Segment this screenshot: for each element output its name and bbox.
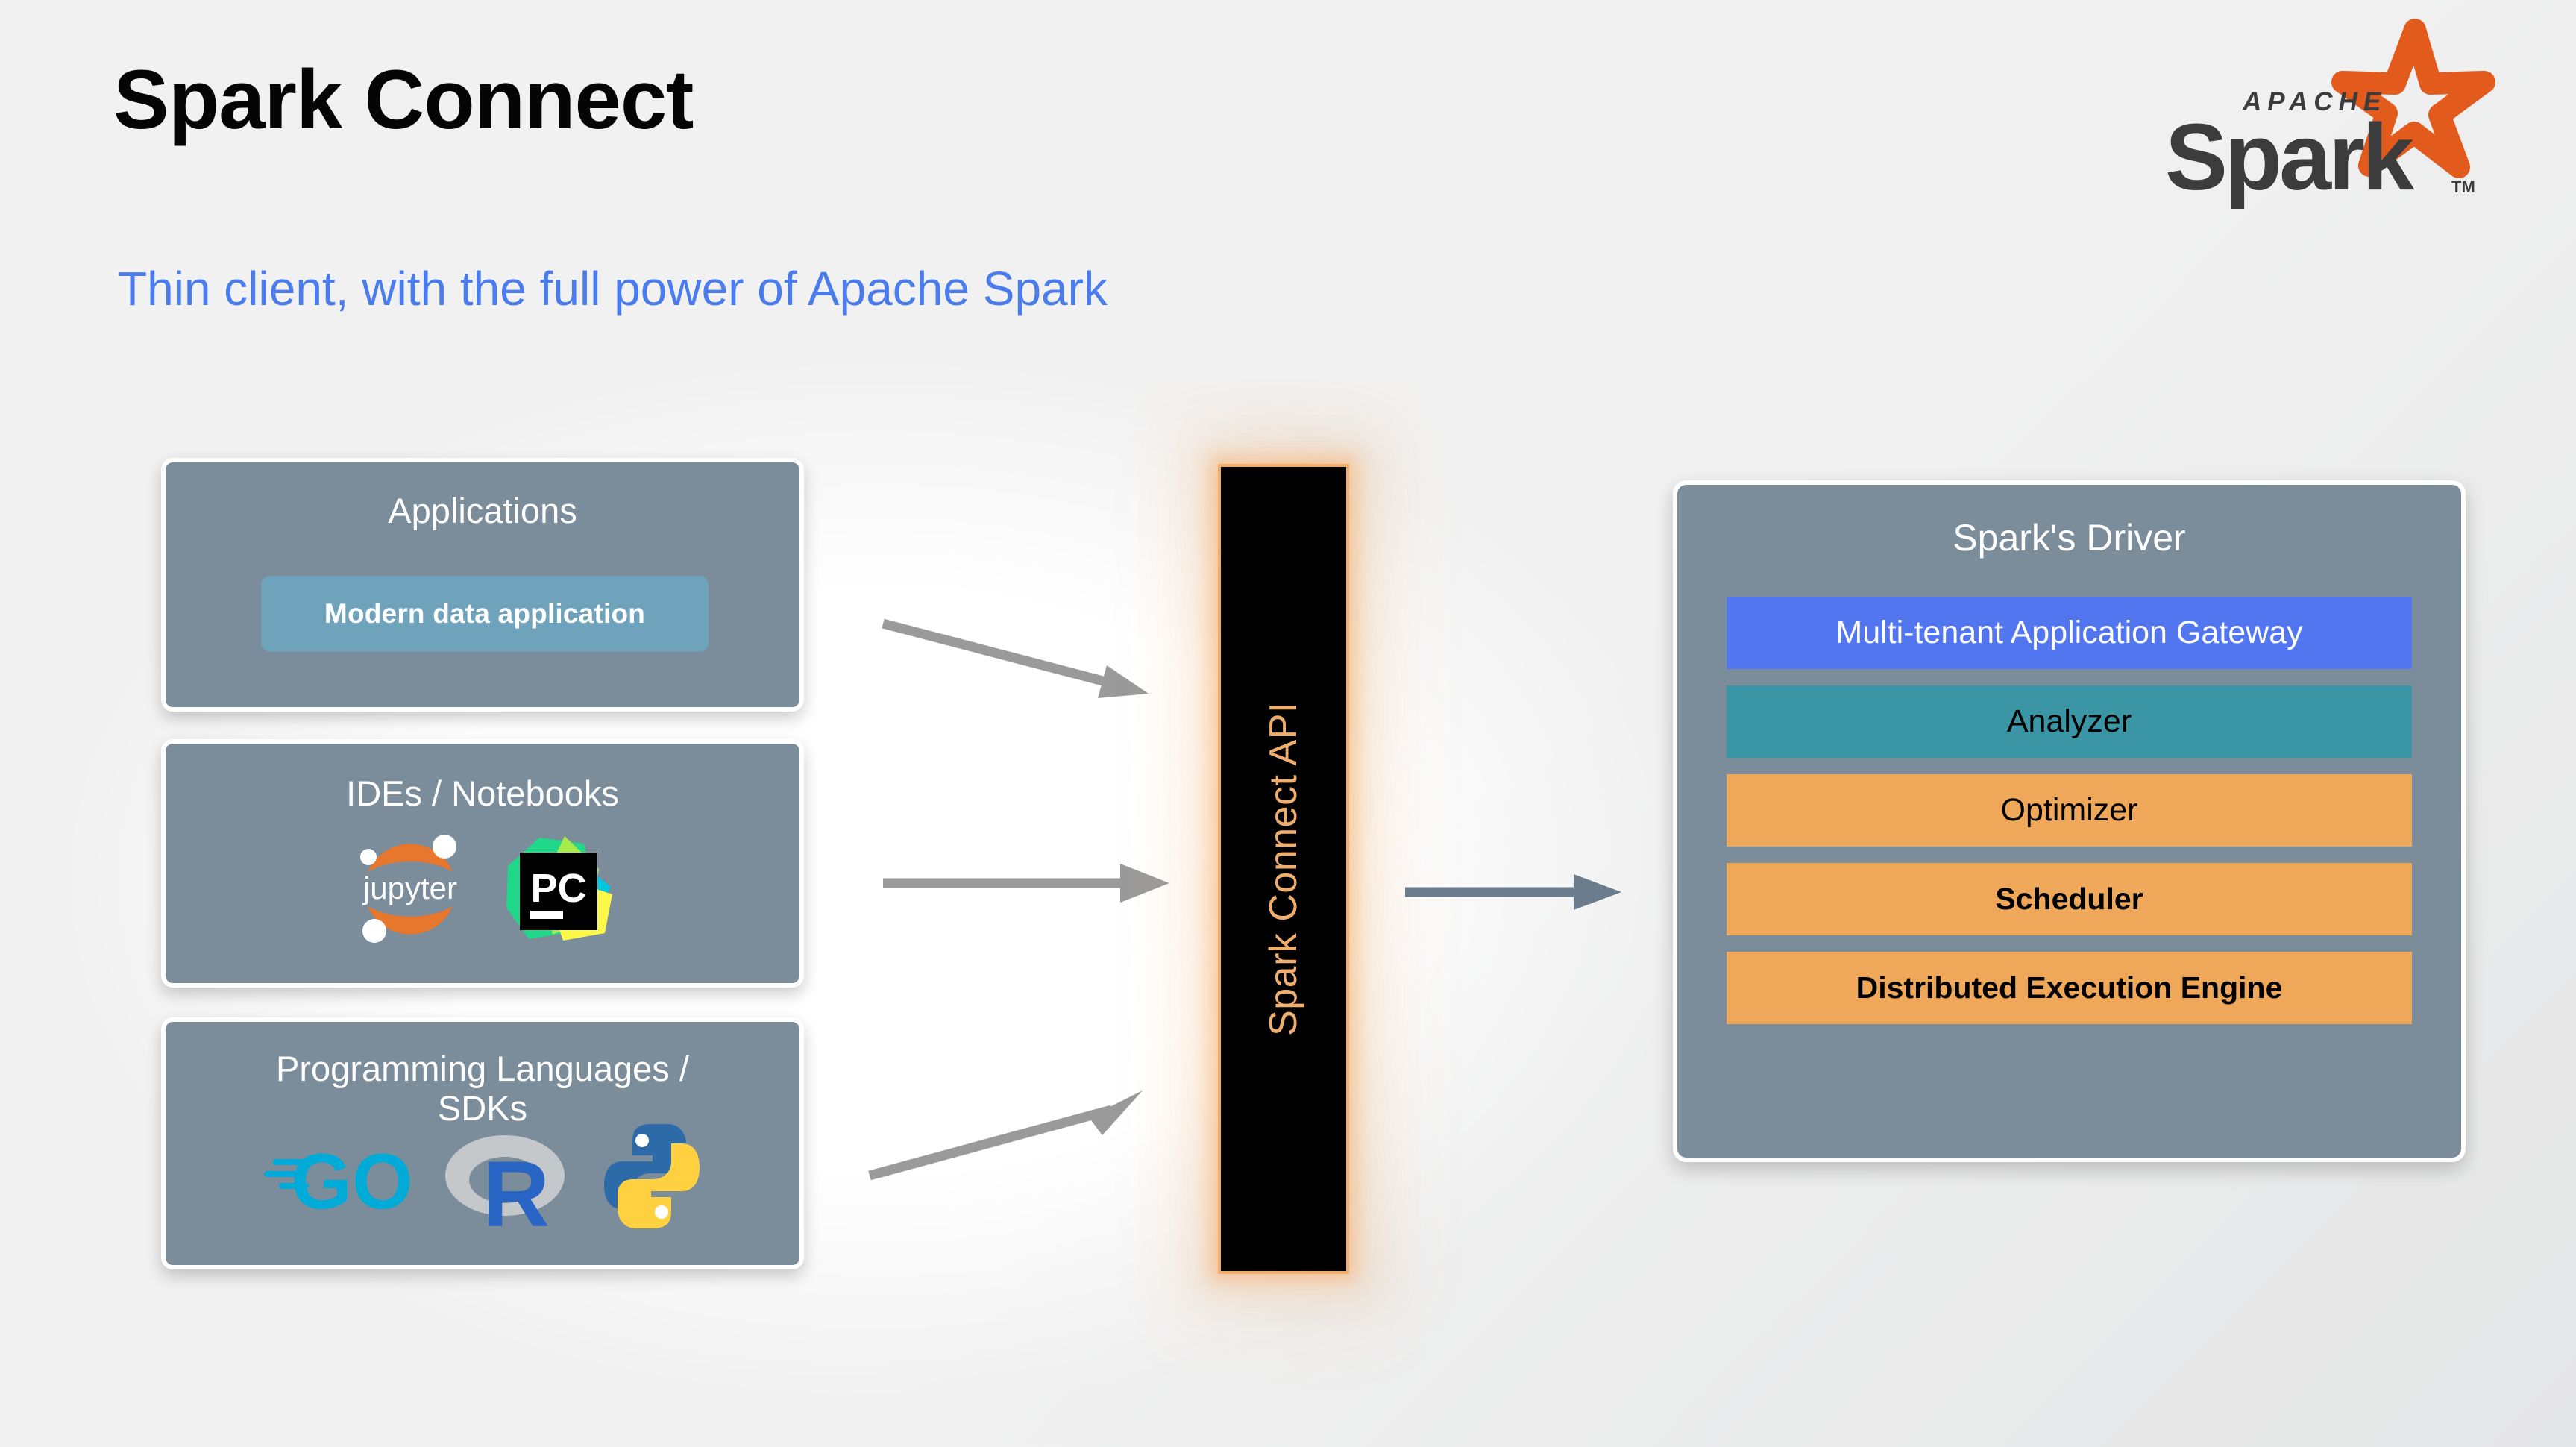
- svg-text:jupyter: jupyter: [362, 870, 457, 905]
- driver-row-execution-engine-label: Distributed Execution Engine: [1856, 970, 2283, 1005]
- driver-row-execution-engine[interactable]: Distributed Execution Engine: [1727, 952, 2412, 1024]
- driver-row-scheduler[interactable]: Scheduler: [1727, 863, 2412, 935]
- driver-row-optimizer[interactable]: Optimizer: [1727, 774, 2412, 847]
- arrow-api-to-driver: [1402, 858, 1656, 932]
- driver-row-gateway-label: Multi-tenant Application Gateway: [1835, 615, 2302, 651]
- page-subtitle: Thin client, with the full power of Apac…: [118, 265, 1108, 313]
- spark-connect-api-label: Spark Connect API: [1261, 702, 1306, 1036]
- arrow-languages-to-api: [865, 1044, 1201, 1186]
- apache-spark-logo: APACHE Spark TM: [2129, 13, 2502, 215]
- python-logo: [600, 1121, 704, 1231]
- svg-text:R: R: [483, 1143, 550, 1232]
- spark-connect-api-bar[interactable]: Spark Connect API: [1218, 464, 1349, 1274]
- svg-text:PC: PC: [530, 866, 586, 911]
- spark-driver-panel[interactable]: Spark's Driver Multi-tenant Application …: [1673, 480, 2466, 1162]
- arrow-applications-to-api: [880, 612, 1193, 716]
- driver-row-scheduler-label: Scheduler: [1995, 882, 2143, 917]
- panel-title-languages-line1: Programming Languages /: [276, 1049, 689, 1088]
- modern-data-application-label: Modern data application: [324, 598, 645, 630]
- arrow-ides-to-api: [880, 850, 1193, 940]
- driver-row-gateway[interactable]: Multi-tenant Application Gateway: [1727, 597, 2412, 669]
- page-title: Spark Connect: [113, 58, 693, 142]
- panel-title-ides-notebooks: IDEs / Notebooks: [166, 773, 799, 813]
- ide-logo-row: jupyter PC: [166, 826, 799, 952]
- client-panel-ides-notebooks[interactable]: IDEs / Notebooks jupyter PC: [161, 739, 804, 988]
- driver-row-optimizer-label: Optimizer: [2001, 792, 2138, 829]
- spark-driver-title: Spark's Driver: [1677, 516, 2461, 559]
- go-logo: GO: [261, 1135, 410, 1217]
- panel-title-languages-sdks: Programming Languages / SDKs: [166, 1049, 799, 1128]
- r-logo: R: [442, 1120, 568, 1232]
- panel-title-applications: Applications: [166, 491, 799, 530]
- language-logo-row: GO R: [166, 1120, 799, 1232]
- driver-row-analyzer-label: Analyzer: [2007, 703, 2132, 740]
- pycharm-logo: PC: [500, 830, 618, 948]
- logo-tm-text: TM: [2451, 178, 2475, 196]
- driver-row-analyzer[interactable]: Analyzer: [1727, 685, 2412, 758]
- modern-data-application-box[interactable]: Modern data application: [261, 576, 709, 652]
- client-panel-applications[interactable]: Applications Modern data application: [161, 458, 804, 712]
- svg-text:GO: GO: [291, 1138, 410, 1217]
- spark-driver-component-stack: Multi-tenant Application Gateway Analyze…: [1727, 597, 2412, 1024]
- logo-spark-text: Spark: [2165, 104, 2415, 210]
- jupyter-logo: jupyter: [347, 826, 474, 952]
- client-panel-languages-sdks[interactable]: Programming Languages / SDKs GO R: [161, 1017, 804, 1269]
